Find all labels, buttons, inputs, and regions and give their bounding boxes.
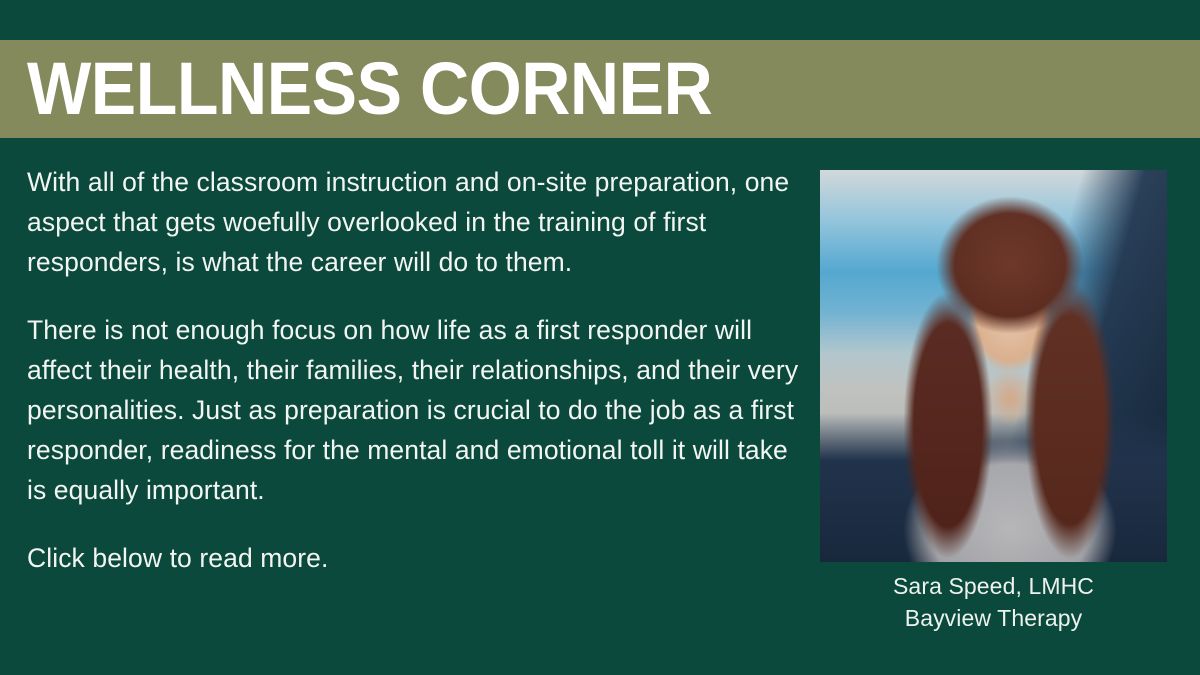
contributor-photo-image xyxy=(820,170,1167,562)
contributor-photo xyxy=(820,170,1167,562)
caption-name: Sara Speed, LMHC xyxy=(820,570,1167,602)
body-text-column: With all of the classroom instruction an… xyxy=(27,162,802,578)
call-to-action-text: Click below to read more. xyxy=(27,538,802,578)
caption-organization: Bayview Therapy xyxy=(820,602,1167,634)
body-paragraph-1: With all of the classroom instruction an… xyxy=(27,162,802,282)
page-title: Wellness Corner xyxy=(27,52,712,126)
title-band: Wellness Corner xyxy=(0,40,1200,138)
wellness-corner-slide: Wellness Corner With all of the classroo… xyxy=(0,0,1200,675)
photo-caption: Sara Speed, LMHC Bayview Therapy xyxy=(820,570,1167,634)
body-paragraph-2: There is not enough focus on how life as… xyxy=(27,310,802,510)
